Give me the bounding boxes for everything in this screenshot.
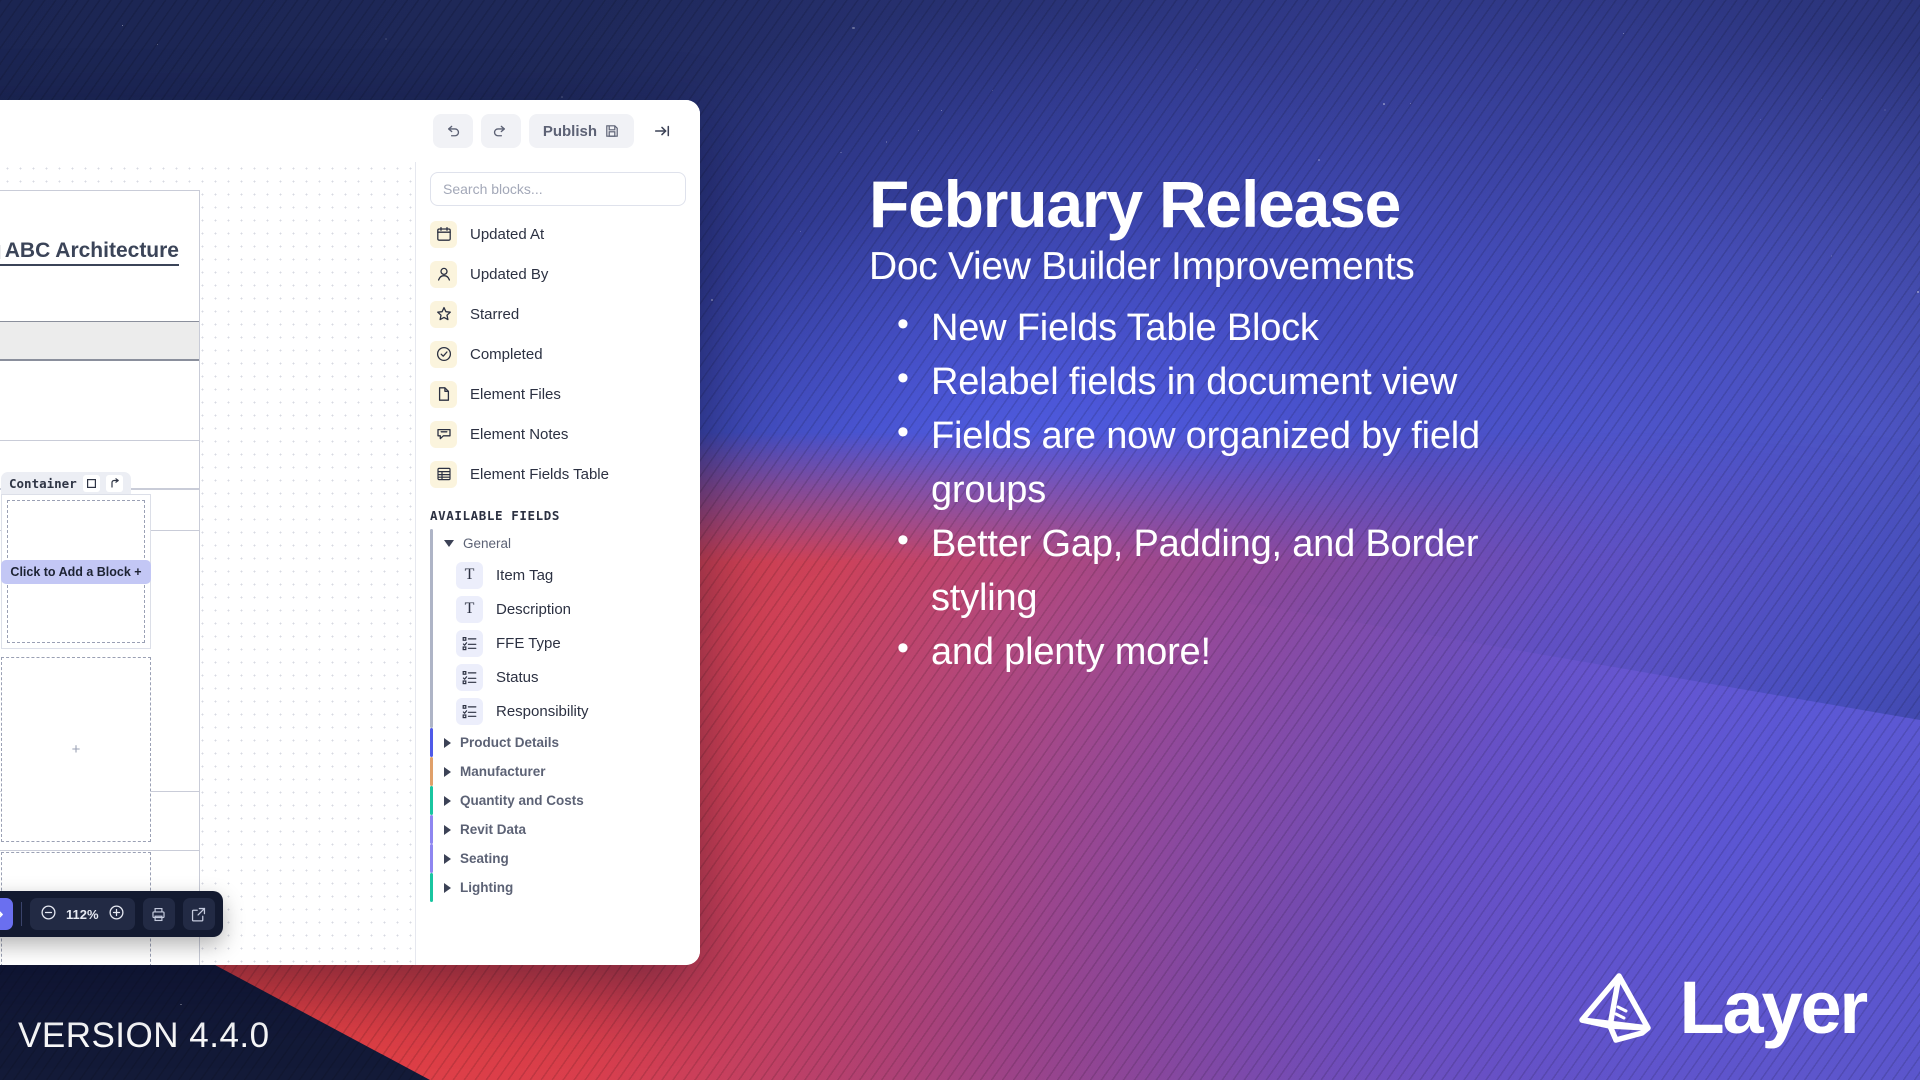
zoom-level-label: 112%	[66, 907, 99, 922]
chevron-right-icon	[444, 767, 451, 777]
redo-icon	[492, 123, 509, 140]
field-group-revit-data: Revit Data	[430, 815, 686, 844]
field-item-label: Status	[496, 669, 539, 686]
save-disk-icon	[604, 123, 620, 139]
check-circle-icon	[430, 341, 457, 368]
chevron-right-icon	[444, 825, 451, 835]
block-item-label: Updated At	[470, 226, 544, 243]
app-window: Publish ABC Architecture 0 ns and	[0, 100, 700, 965]
note-chat-icon	[430, 421, 457, 448]
feature-list: New Fields Table Block Relabel fields in…	[869, 302, 1569, 680]
container-block-chip[interactable]: Container	[1, 472, 131, 494]
block-item-label: Updated By	[470, 266, 548, 283]
list-item: Fields are now organized by field groups	[869, 410, 1569, 518]
app-body: ABC Architecture 0 ns and Partial Surrou…	[0, 162, 700, 965]
block-item-element-fields-table[interactable]: Element Fields Table	[430, 454, 686, 494]
field-group-header[interactable]: Lighting	[444, 873, 686, 902]
field-item-label: Description	[496, 601, 571, 618]
empty-block-slot[interactable]: +	[1, 657, 151, 842]
field-group-header[interactable]: Quantity and Costs	[444, 786, 686, 815]
block-item-label: Element Fields Table	[470, 466, 609, 483]
field-group-header[interactable]: General	[444, 529, 686, 558]
block-item-element-notes[interactable]: Element Notes	[430, 414, 686, 454]
field-group-header[interactable]: Seating	[444, 844, 686, 873]
field-group-header[interactable]: Product Details	[444, 728, 686, 757]
blocks-panel: Search blocks... Updated At Updated By	[415, 162, 700, 965]
document-logo: ABC Architecture	[0, 239, 179, 266]
chevron-right-icon	[444, 796, 451, 806]
square-icon	[86, 478, 97, 489]
list-item: and plenty more!	[869, 626, 1569, 680]
block-item-label: Starred	[470, 306, 519, 323]
field-group-quantity-and-costs: Quantity and Costs	[430, 786, 686, 815]
list-item: New Fields Table Block	[869, 302, 1569, 356]
redo-button[interactable]	[481, 114, 521, 148]
plus-circle-icon	[108, 904, 125, 921]
collapse-right-icon	[653, 122, 671, 140]
text-field-icon: T	[456, 596, 483, 623]
arrow-up-turn-icon	[109, 478, 120, 489]
field-item-label: Responsibility	[496, 703, 589, 720]
calendar-icon	[430, 221, 457, 248]
move-block-button[interactable]	[106, 475, 123, 492]
layer-logo-icon	[1572, 970, 1664, 1046]
canvas-dock-toolbar: CH-10 112%	[0, 891, 223, 937]
external-link-icon	[190, 906, 207, 923]
chevron-right-icon	[444, 854, 451, 864]
next-element-button[interactable]	[0, 898, 13, 930]
field-group-label: Product Details	[460, 735, 559, 750]
open-external-button[interactable]	[183, 898, 215, 930]
container-chip-label: Container	[9, 476, 77, 491]
marketing-copy: February Release Doc View Builder Improv…	[869, 170, 1569, 680]
document-header-row: 0	[0, 321, 199, 361]
document-logo-text: ABC Architecture	[5, 239, 179, 263]
zoom-in-button[interactable]	[108, 904, 125, 924]
field-group-header[interactable]: Manufacturer	[444, 757, 686, 786]
field-group-label: Lighting	[460, 880, 513, 895]
field-group-label: General	[463, 536, 511, 551]
minus-circle-icon	[40, 904, 57, 921]
container-block-dropzone[interactable]: Click to Add a Block +	[7, 500, 145, 643]
field-item-description[interactable]: T Description	[444, 592, 686, 626]
field-group-header[interactable]: Revit Data	[444, 815, 686, 844]
field-group-manufacturer: Manufacturer	[430, 757, 686, 786]
page-subtitle: Doc View Builder Improvements	[869, 244, 1569, 290]
block-item-completed[interactable]: Completed	[430, 334, 686, 374]
block-item-updated-at[interactable]: Updated At	[430, 214, 686, 254]
pdf-print-icon	[150, 906, 167, 923]
layer-logo-text: Layer	[1680, 971, 1866, 1045]
block-item-label: Completed	[470, 346, 543, 363]
field-group-label: Revit Data	[460, 822, 526, 837]
document-canvas[interactable]: ABC Architecture 0 ns and Partial Surrou…	[0, 162, 415, 965]
block-item-element-files[interactable]: Element Files	[430, 374, 686, 414]
arrow-right-icon	[0, 906, 6, 923]
table-icon	[430, 461, 457, 488]
user-icon	[430, 261, 457, 288]
field-group-label: Seating	[460, 851, 509, 866]
zoom-out-button[interactable]	[40, 904, 57, 924]
field-group-product-details: Product Details	[430, 728, 686, 757]
undo-icon	[444, 123, 461, 140]
block-item-label: Element Files	[470, 386, 561, 403]
star-icon	[430, 301, 457, 328]
chevron-right-icon	[444, 738, 451, 748]
chevron-down-icon	[444, 540, 454, 547]
undo-button[interactable]	[433, 114, 473, 148]
layer-logo: Layer	[1572, 970, 1866, 1046]
block-list: Updated At Updated By Starred	[430, 214, 686, 494]
file-icon	[430, 381, 457, 408]
block-item-label: Element Notes	[470, 426, 568, 443]
block-item-starred[interactable]: Starred	[430, 294, 686, 334]
document-logo-icon	[0, 242, 3, 261]
zoom-control: 112%	[30, 898, 135, 930]
search-placeholder: Search blocks...	[443, 181, 543, 197]
search-blocks-input[interactable]: Search blocks...	[430, 172, 686, 206]
page-title: February Release	[869, 170, 1569, 240]
list-item: Better Gap, Padding, and Border styling	[869, 518, 1569, 626]
text-field-icon: T	[456, 562, 483, 589]
export-pdf-button[interactable]	[143, 898, 175, 930]
field-item-responsibility[interactable]: Responsibility	[444, 694, 686, 728]
chevron-right-icon	[444, 883, 451, 893]
document-text-row: ns and Partial Surround	[0, 361, 199, 441]
field-group-label: Manufacturer	[460, 764, 546, 779]
field-group-label: Quantity and Costs	[460, 793, 584, 808]
version-label: VERSION 4.4.0	[18, 1016, 270, 1056]
app-toolbar: Publish	[0, 100, 700, 162]
available-fields-title: AVAILABLE FIELDS	[430, 508, 686, 523]
field-item-label: Item Tag	[496, 567, 553, 584]
select-list-icon	[456, 698, 483, 725]
add-block-button[interactable]: Click to Add a Block +	[1, 560, 150, 584]
dock-divider	[21, 902, 22, 926]
field-group-general: General T Item Tag T Description FFE Typ…	[430, 529, 686, 728]
field-item-status[interactable]: Status	[444, 660, 686, 694]
field-item-item-tag[interactable]: T Item Tag	[444, 558, 686, 592]
select-list-icon	[456, 664, 483, 691]
field-group-seating: Seating	[430, 844, 686, 873]
duplicate-block-button[interactable]	[83, 475, 100, 492]
publish-button[interactable]: Publish	[529, 114, 634, 148]
field-item-ffe-type[interactable]: FFE Type	[444, 626, 686, 660]
block-item-updated-by[interactable]: Updated By	[430, 254, 686, 294]
collapse-panel-button[interactable]	[642, 114, 682, 148]
field-group-lighting: Lighting	[430, 873, 686, 902]
list-item: Relabel fields in document view	[869, 356, 1569, 410]
field-item-label: FFE Type	[496, 635, 561, 652]
publish-label: Publish	[543, 123, 597, 140]
select-list-icon	[456, 630, 483, 657]
